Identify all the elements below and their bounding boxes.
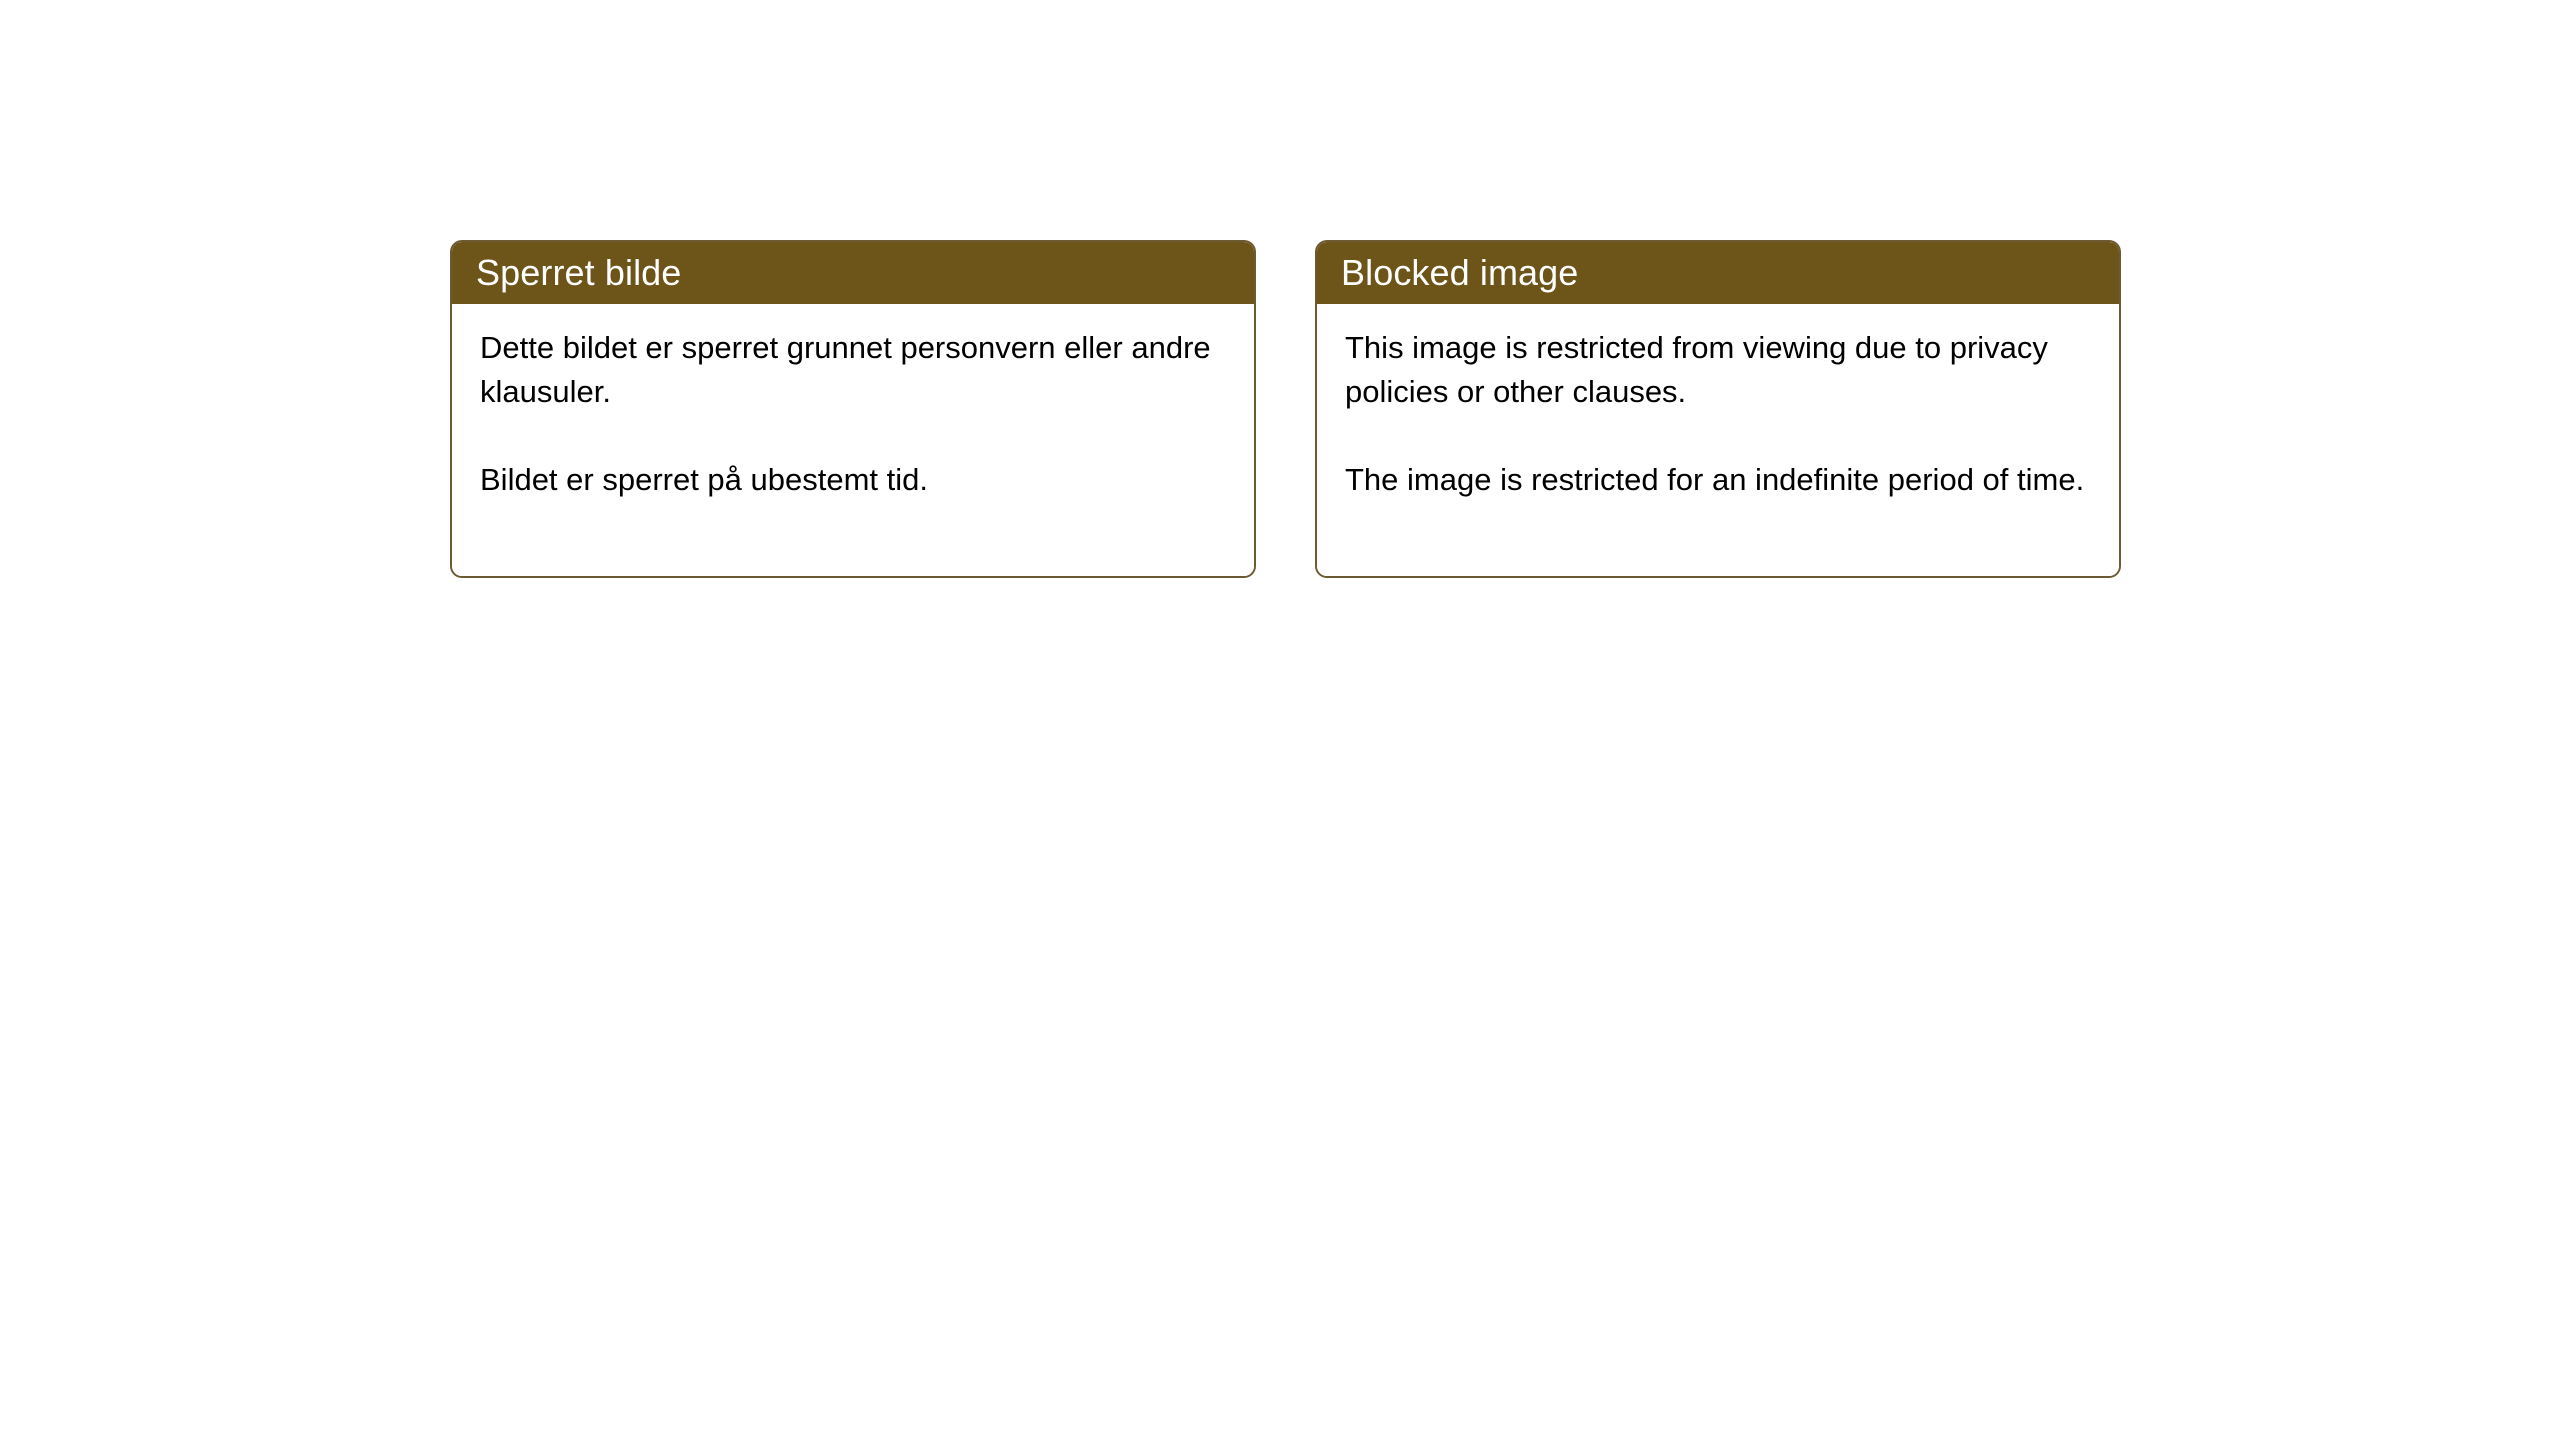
card-paragraph-en-1: This image is restricted from viewing du… <box>1345 326 2093 414</box>
card-title-en: Blocked image <box>1341 255 1578 291</box>
page-root: Sperret bilde Dette bildet er sperret gr… <box>0 0 2560 1440</box>
card-body-en: This image is restricted from viewing du… <box>1317 304 2119 576</box>
notice-cards-container: Sperret bilde Dette bildet er sperret gr… <box>450 240 2121 578</box>
card-paragraph-no-2: Bildet er sperret på ubestemt tid. <box>480 458 1228 502</box>
blocked-image-notice-no: Sperret bilde Dette bildet er sperret gr… <box>450 240 1256 578</box>
card-title-no: Sperret bilde <box>476 255 681 291</box>
card-paragraph-en-2: The image is restricted for an indefinit… <box>1345 458 2093 502</box>
blocked-image-notice-en: Blocked image This image is restricted f… <box>1315 240 2121 578</box>
card-paragraph-no-1: Dette bildet er sperret grunnet personve… <box>480 326 1228 414</box>
card-header-en: Blocked image <box>1317 242 2119 304</box>
card-body-no: Dette bildet er sperret grunnet personve… <box>452 304 1254 576</box>
card-header-no: Sperret bilde <box>452 242 1254 304</box>
